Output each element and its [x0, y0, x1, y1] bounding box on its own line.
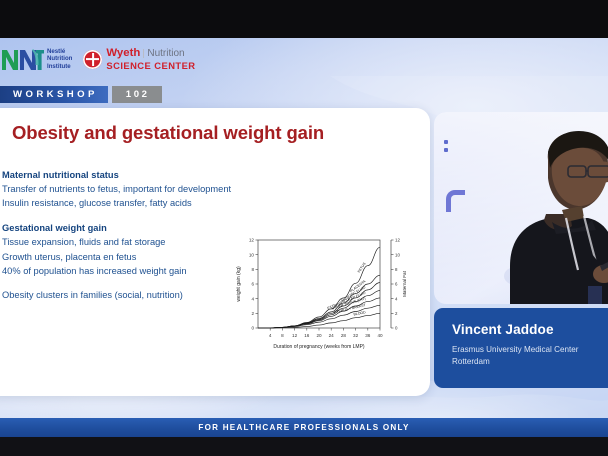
- svg-text:10: 10: [395, 252, 400, 257]
- workshop-banner: WORKSHOP 102: [0, 86, 162, 103]
- wyeth-primary-row: Wyeth Nutrition: [106, 48, 195, 59]
- svg-text:16: 16: [304, 333, 310, 338]
- bullet-section-gestational: Gestational weight gain Tissue expansion…: [2, 223, 252, 278]
- chart-canvas: 481216202428323640024681012024681012FETU…: [232, 232, 410, 360]
- slide-title: Obesity and gestational weight gain: [12, 122, 324, 144]
- svg-text:12: 12: [395, 238, 400, 243]
- nni-monogram-icon: [0, 44, 44, 74]
- screen-hook-glyph-icon: [446, 190, 465, 212]
- svg-text:24: 24: [329, 333, 335, 338]
- speaker-figure: [492, 126, 608, 304]
- svg-text:0: 0: [395, 326, 398, 331]
- workshop-label: WORKSHOP: [0, 86, 108, 103]
- svg-text:2: 2: [251, 311, 254, 316]
- speaker-affiliation: Erasmus University Medical Center Rotter…: [452, 344, 608, 367]
- svg-text:10: 10: [249, 252, 255, 257]
- screen-colon-glyph-icon: [444, 140, 448, 156]
- workshop-number-badge: 102: [112, 86, 162, 103]
- wyeth-wordmark: Wyeth Nutrition SCIENCE CENTER: [106, 48, 195, 70]
- wyeth-shield-icon: [83, 50, 102, 69]
- svg-text:BLOOD: BLOOD: [353, 310, 366, 316]
- svg-text:8: 8: [395, 267, 398, 272]
- brand-logo-strip: Nestlé Nutrition Institute Wyeth Nutriti…: [0, 44, 196, 74]
- bullet-heading: Maternal nutritional status: [2, 170, 252, 180]
- svg-text:8: 8: [281, 333, 284, 338]
- letterbox-top-bar: [0, 0, 608, 38]
- wyeth-brand-name: Wyeth: [106, 48, 140, 59]
- svg-text:28: 28: [341, 333, 347, 338]
- slide-panel: Obesity and gestational weight gain Mate…: [0, 108, 430, 396]
- svg-text:weight gain (kg): weight gain (kg): [236, 266, 242, 302]
- speaker-name-card: Vincent Jaddoe Erasmus University Medica…: [434, 308, 608, 388]
- svg-text:12: 12: [249, 238, 255, 243]
- speaker-affiliation-line-1: Erasmus University Medical Center: [452, 344, 608, 356]
- speaker-affiliation-line-2: Rotterdam: [452, 356, 608, 368]
- bullet-line: Transfer of nutrients to fetus, importan…: [2, 182, 252, 196]
- letterbox-bottom-bar: [0, 437, 608, 456]
- wyeth-nutrition-word: Nutrition: [147, 49, 184, 59]
- wyeth-divider: [143, 49, 144, 58]
- healthcare-disclaimer-bar: FOR HEALTHCARE PROFESSIONALS ONLY: [0, 418, 608, 437]
- svg-text:40: 40: [377, 333, 383, 338]
- svg-text:6: 6: [395, 282, 398, 287]
- nni-line-1: Nestlé: [47, 48, 72, 55]
- svg-text:4: 4: [251, 296, 254, 301]
- svg-text:2: 2: [395, 311, 398, 316]
- nestle-nutrition-institute-logo: Nestlé Nutrition Institute: [0, 44, 72, 74]
- speaker-video-feed[interactable]: [434, 112, 608, 304]
- bullet-line: Tissue expansion, fluids and fat storage: [2, 235, 252, 249]
- svg-text:8: 8: [251, 267, 254, 272]
- svg-text:Duration of pregnancy (weeks f: Duration of pregnancy (weeks from LMP): [273, 344, 364, 350]
- svg-text:4: 4: [269, 333, 272, 338]
- wyeth-science-center-line: SCIENCE CENTER: [106, 61, 195, 70]
- nni-line-2: Nutrition: [47, 55, 72, 62]
- bullet-heading: Gestational weight gain: [2, 223, 252, 233]
- section-spacer: [2, 278, 252, 288]
- bullet-section-maternal: Maternal nutritional status Transfer of …: [2, 170, 252, 210]
- presentation-stage: Nestlé Nutrition Institute Wyeth Nutriti…: [0, 0, 608, 456]
- svg-text:4: 4: [395, 296, 398, 301]
- svg-text:12: 12: [292, 333, 298, 338]
- svg-text:6: 6: [251, 282, 254, 287]
- section-spacer: [2, 210, 252, 223]
- svg-text:0: 0: [251, 326, 254, 331]
- bullet-line: 40% of population has increased weight g…: [2, 264, 252, 278]
- svg-text:36: 36: [365, 333, 371, 338]
- svg-text:Maternal Fat: Maternal Fat: [402, 270, 407, 297]
- gestational-weight-gain-chart: 481216202428323640024681012024681012FETU…: [232, 232, 410, 360]
- nni-wordmark: Nestlé Nutrition Institute: [47, 48, 72, 70]
- disclaimer-text: FOR HEALTHCARE PROFESSIONALS ONLY: [198, 423, 409, 432]
- svg-text:32: 32: [353, 333, 359, 338]
- svg-text:20: 20: [316, 333, 322, 338]
- nni-line-3: Institute: [47, 63, 72, 70]
- speaker-name: Vincent Jaddoe: [452, 322, 608, 337]
- bullet-line: Growth uterus, placenta en fetus: [2, 250, 252, 264]
- bullet-line-closing: Obesity clusters in families (social, nu…: [2, 288, 252, 302]
- bullet-line: Insulin resistance, glucose transfer, fa…: [2, 196, 252, 210]
- slide-bullet-body: Maternal nutritional status Transfer of …: [2, 170, 252, 302]
- wyeth-nutrition-science-center-logo: Wyeth Nutrition SCIENCE CENTER: [83, 48, 195, 70]
